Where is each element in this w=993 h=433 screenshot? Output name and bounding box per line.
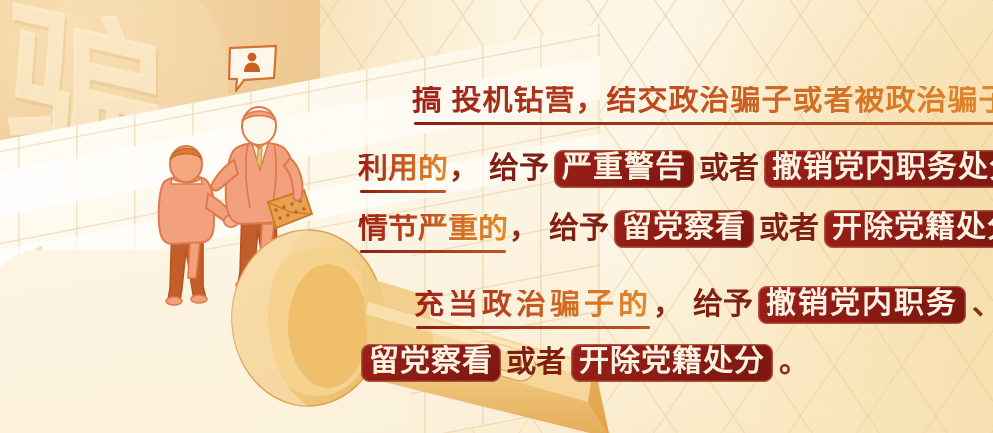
penalty-badge-probation[interactable]: 留党察看 [614, 210, 754, 248]
line5-or: 或者 [506, 348, 566, 378]
text-line-3: 情节严重的 ， 给予 留党察看 或者 开除党籍处分 。 [358, 210, 993, 248]
line4-enumeration-comma: 、 [971, 290, 993, 320]
poster-canvas: 骗 [0, 0, 993, 433]
text-line-5: 留党察看 或者 开除党籍处分 。 [356, 344, 810, 382]
line3-or: 或者 [759, 214, 819, 244]
penalty-badge-probation-2[interactable]: 留党察看 [361, 344, 501, 382]
penalty-badge-remove-party-post-2[interactable]: 撤销党内职务 [758, 286, 966, 324]
line1-emphasis: 搞 投机钻营，结交政治骗子或者被政治骗子 [412, 86, 993, 116]
line4-give: 给予 [693, 290, 753, 320]
line3-comma: ， [508, 214, 540, 244]
text-line-2: 利用的 ， 给予 严重警告 或者 撤销党内职务处分 ； [358, 150, 993, 188]
line2-comma: ， [448, 154, 480, 184]
line5-period: 。 [778, 348, 810, 378]
line2-or: 或者 [699, 154, 759, 184]
line2-emphasis: 利用的 [358, 154, 448, 184]
speech-bubble [224, 44, 280, 94]
line4-comma: ， [652, 290, 684, 320]
penalty-badge-expulsion[interactable]: 开除党籍处分 [824, 210, 993, 248]
line2-give: 给予 [489, 154, 549, 184]
penalty-badge-expulsion-2[interactable]: 开除党籍处分 [571, 344, 773, 382]
line4-emphasis: 充当政治骗子的 [414, 290, 652, 320]
line3-emphasis: 情节严重的 [358, 214, 508, 244]
text-line-1: 搞 投机钻营，结交政治骗子或者被政治骗子 [412, 86, 993, 116]
penalty-badge-remove-party-post[interactable]: 撤销党内职务处分 [764, 150, 993, 188]
regulation-text-block: 搞 投机钻营，结交政治骗子或者被政治骗子 利用的 ， 给予 严重警告 或者 撤销… [356, 38, 984, 358]
line3-give: 给予 [549, 214, 609, 244]
text-line-4: 充当政治骗子的 ， 给予 撤销党内职务 、 [414, 286, 993, 324]
penalty-badge-serious-warning[interactable]: 严重警告 [554, 150, 694, 188]
